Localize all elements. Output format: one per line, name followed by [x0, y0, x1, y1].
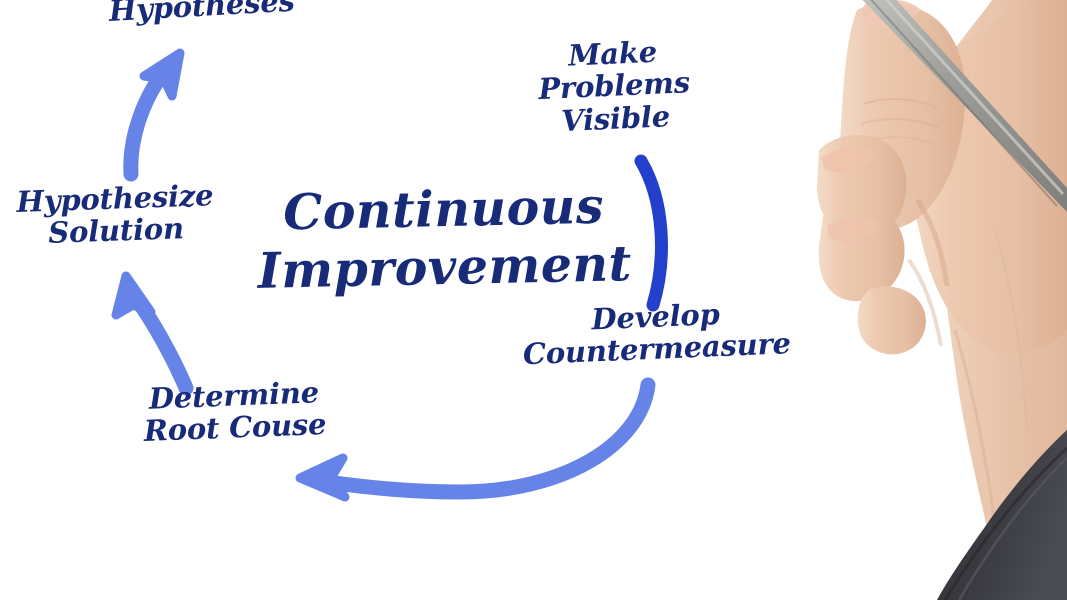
finger-shadow-2	[909, 260, 941, 346]
ring-finger-shape	[819, 206, 905, 302]
index-finger-shape	[838, 3, 965, 230]
center-title-line-1: Continuous	[283, 177, 605, 242]
node-line-2: Root Couse	[143, 407, 327, 448]
diagram-center-title: ContinuousImprovement	[253, 177, 635, 301]
wrist-contour	[955, 330, 997, 540]
wrist-vein	[995, 230, 1027, 430]
arrow-root-to-hypothesize	[116, 276, 186, 388]
ring-finger-nail	[827, 217, 881, 242]
middle-finger-shape	[817, 135, 906, 239]
node-label-develop-countermeasure: DevelopCountermeasure	[505, 294, 807, 371]
node-label-hypotheses: Hypotheses	[108, 0, 295, 27]
hand-with-marker-photo	[817, 0, 1067, 600]
middle-finger-nail	[821, 148, 877, 173]
node-line-3: Visible	[560, 99, 670, 138]
knuckle-crease-3	[865, 137, 937, 146]
fingernail-shape	[862, 0, 921, 28]
node-line-2: Solution	[48, 212, 185, 251]
finger-shadow-1	[917, 200, 947, 286]
node-line-1: Hypothesize	[16, 178, 214, 219]
node-label-make-problems-visible: MakeProblemsVisible	[517, 33, 711, 139]
knuckle-crease-2	[861, 119, 939, 128]
sleeve-edge-highlight	[945, 448, 1067, 600]
little-finger-shape	[858, 286, 926, 354]
hand-back-shape	[904, 0, 1067, 355]
node-line-2: Countermeasure	[522, 327, 791, 372]
node-label-hypothesize-solution: HypothesizeSolution	[16, 179, 215, 251]
center-title-line-2: Improvement	[257, 234, 632, 300]
suit-sleeve-shape	[937, 430, 1067, 600]
marker-pen	[853, 0, 1067, 212]
sleeve-seam	[959, 458, 1067, 600]
arrow-countermeasure-to-root	[300, 385, 648, 497]
arrow-hypothesize-to-hypotheses	[131, 53, 180, 174]
node-label-determine-root-couse: DetermineRoot Couse	[142, 376, 327, 448]
knuckle-crease-1	[863, 99, 937, 108]
forearm-shape	[917, 0, 1067, 600]
arc-visible-to-countermeasure	[641, 161, 661, 305]
continuous-improvement-diagram: Hypotheses MakeProblemsVisible DevelopCo…	[0, 0, 1067, 600]
